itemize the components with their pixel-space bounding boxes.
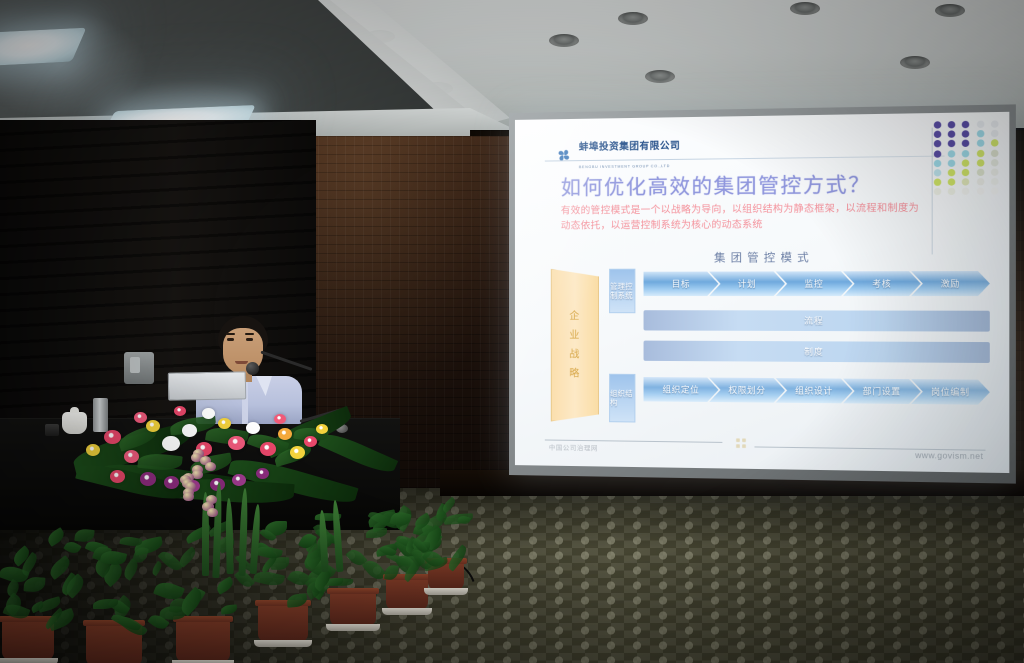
matrix-dot — [962, 169, 970, 176]
matrix-dot — [948, 150, 956, 157]
matrix-dot — [948, 188, 956, 195]
diagram-side-label-top: 管理控制系统 — [609, 269, 635, 314]
presentation-hall-photo: 蚌埠投资集团有限公司 BENGBU INVESTMENT GROUP CO.,L… — [0, 0, 1024, 663]
matrix-dot — [948, 178, 956, 185]
pot-saucer — [326, 624, 380, 631]
slide-diagram: 集团管控模式 企 业 战 略 管理控制系统 组织结构 目标 计划 监控 考核 — [543, 248, 994, 431]
presenter-brow — [226, 333, 235, 335]
matrix-dot — [991, 140, 999, 147]
flower — [304, 436, 317, 447]
matrix-dot — [962, 121, 970, 128]
ceiling-downlight-icon — [900, 56, 930, 69]
flower — [274, 414, 286, 424]
slide-body-text: 有效的管控模式是一个以战略为导向，以组织结构为静态框架，以流程和制度为动态依托，… — [561, 202, 925, 235]
podium-device — [124, 352, 154, 384]
footer-logo-icon — [734, 436, 748, 451]
orchid-spray — [166, 446, 226, 516]
diagram-heading: 集团管控模式 — [543, 248, 994, 266]
presenter-eye — [227, 338, 234, 341]
diagram-bar-system: 制度 — [644, 341, 990, 363]
flower — [182, 424, 197, 437]
strategy-band: 企 业 战 略 — [551, 269, 599, 422]
flower — [218, 418, 231, 429]
dot-matrix-decoration — [934, 120, 1003, 195]
chevron-step: 部门设置 — [843, 379, 921, 405]
matrix-dot — [962, 130, 970, 137]
potted-plant-row — [0, 452, 490, 663]
matrix-dot — [977, 159, 985, 166]
diagram-bar-process: 流程 — [644, 310, 990, 331]
matrix-dot — [962, 178, 970, 185]
ceiling-downlight-icon — [618, 12, 648, 25]
matrix-dot — [991, 159, 999, 166]
diagram-side-label-bottom: 组织结构 — [609, 374, 635, 423]
tall-plant-leaf — [225, 498, 233, 574]
chevron-step: 组织设计 — [776, 378, 853, 403]
matrix-dot — [948, 169, 956, 176]
matrix-dot — [977, 121, 985, 128]
matrix-dot — [948, 140, 956, 147]
matrix-dot — [962, 140, 970, 147]
ceiling-downlight-icon — [790, 2, 820, 15]
matrix-dot — [977, 130, 985, 137]
chevron-step: 组织定位 — [644, 377, 719, 402]
matrix-dot — [991, 120, 999, 127]
cup — [45, 424, 59, 436]
pot-saucer — [254, 640, 312, 647]
pot-saucer — [382, 608, 432, 615]
chevron-step: 监控 — [776, 271, 853, 296]
header-vertical-rule — [932, 128, 933, 255]
matrix-dot — [934, 131, 942, 138]
matrix-dot — [991, 188, 999, 195]
chevron-step: 目标 — [644, 272, 719, 296]
slide-title: 如何优化高效的集团管控方式？ — [561, 168, 871, 201]
pot-saucer — [424, 588, 468, 595]
chevron-step: 激励 — [911, 271, 990, 296]
microphone-icon — [246, 362, 259, 375]
chevron-step: 岗位编制 — [911, 379, 990, 405]
company-logo: 蚌埠投资集团有限公司 BENGBU INVESTMENT GROUP CO.,L… — [555, 135, 680, 173]
matrix-dot — [934, 169, 942, 176]
ceiling-downlight-icon — [549, 34, 579, 47]
matrix-dot — [977, 178, 985, 185]
matrix-dot — [991, 178, 999, 185]
presenter-mouth — [235, 361, 248, 364]
chevron-step: 计划 — [709, 271, 785, 296]
footer-right-url: www.govism.net — [915, 451, 983, 461]
chevron-step: 考核 — [843, 271, 921, 296]
presentation-slide: 蚌埠投资集团有限公司 BENGBU INVESTMENT GROUP CO.,L… — [515, 112, 1009, 473]
footer-left-text: 中国公司治理网 — [549, 442, 598, 453]
strategy-char: 略 — [569, 364, 580, 383]
presenter-brow — [245, 333, 254, 335]
matrix-dot — [934, 140, 942, 147]
matrix-dot — [962, 159, 970, 166]
pinwheel-logo-icon — [555, 146, 573, 164]
strategy-char: 业 — [569, 326, 580, 345]
matrix-dot — [991, 149, 999, 156]
diagram-top-chevron-row: 目标 计划 监控 考核 激励 — [644, 271, 990, 296]
matrix-dot — [977, 169, 985, 176]
matrix-dot — [948, 121, 956, 128]
matrix-dot — [991, 130, 999, 137]
matrix-dot — [977, 149, 985, 156]
projection-screen-surface: 蚌埠投资集团有限公司 BENGBU INVESTMENT GROUP CO.,L… — [515, 112, 1009, 473]
diagram-bottom-chevron-row: 组织定位 权限划分 组织设计 部门设置 岗位编制 — [644, 377, 990, 405]
matrix-dot — [934, 179, 942, 186]
flower — [174, 406, 186, 416]
flower — [228, 436, 245, 450]
matrix-dot — [934, 188, 942, 195]
flower — [134, 412, 147, 423]
matrix-dot — [948, 159, 956, 166]
flower — [278, 428, 292, 440]
chevron-step: 权限划分 — [709, 378, 785, 403]
slide-footer: 中国公司治理网 www.govism.net — [545, 431, 986, 460]
strategy-char: 企 — [569, 307, 580, 326]
flower — [146, 420, 160, 432]
matrix-dot — [962, 150, 970, 157]
flower — [246, 422, 260, 434]
matrix-dot — [977, 140, 985, 147]
matrix-dot — [934, 150, 942, 157]
matrix-dot — [991, 168, 999, 175]
matrix-dot — [934, 121, 942, 128]
presenter-eye — [246, 338, 253, 341]
pot-saucer — [0, 658, 58, 663]
company-logo-text: 蚌埠投资集团有限公司 BENGBU INVESTMENT GROUP CO.,L… — [579, 135, 680, 173]
footer-rule-right — [754, 446, 985, 450]
projection-screen: 蚌埠投资集团有限公司 BENGBU INVESTMENT GROUP CO.,L… — [509, 104, 1016, 483]
matrix-dot — [977, 188, 985, 195]
matrix-dot — [934, 159, 942, 166]
matrix-dot — [962, 188, 970, 195]
ceiling-downlight-icon — [935, 4, 965, 17]
flower — [202, 408, 215, 419]
matrix-dot — [948, 131, 956, 138]
plant-foliage — [408, 497, 484, 570]
ceiling-downlight-icon — [645, 70, 675, 83]
strategy-char: 战 — [569, 345, 580, 364]
